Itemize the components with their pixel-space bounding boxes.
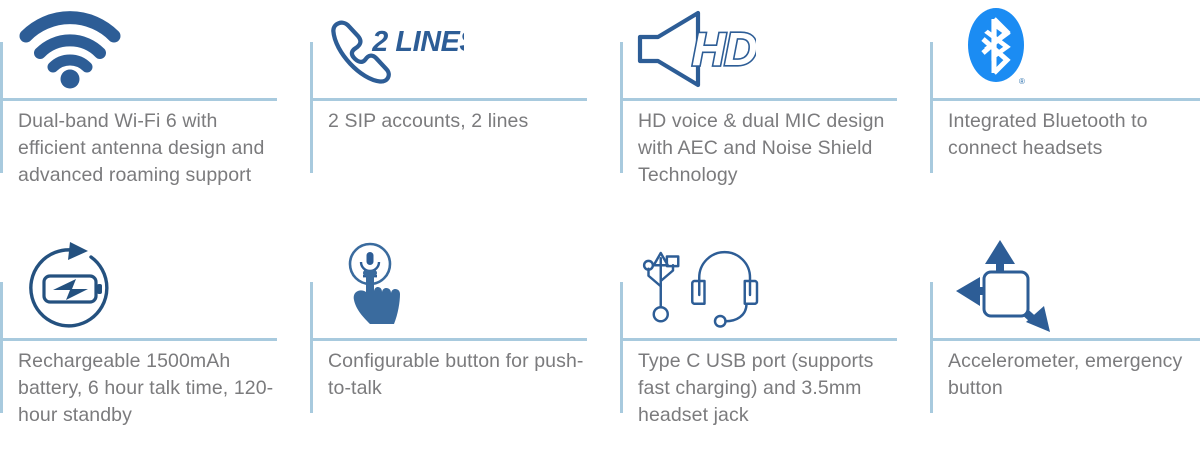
horizontal-divider [620, 338, 897, 341]
horizontal-divider [310, 98, 587, 101]
accelerometer-icon [954, 240, 1094, 336]
feature-caption: Dual-band Wi-Fi 6 with efficient antenna… [18, 108, 286, 189]
horizontal-divider [930, 338, 1200, 341]
rechargeable-battery-icon [22, 240, 162, 336]
vertical-divider [310, 42, 313, 173]
vertical-divider [0, 42, 3, 173]
feature-caption: 2 SIP accounts, 2 lines [328, 108, 596, 135]
push-to-talk-icon [332, 240, 472, 336]
feature-grid: Dual-band Wi-Fi 6 with efficient antenna… [0, 0, 1200, 456]
registered-mark: ® [1019, 77, 1025, 86]
phone-2-lines-icon: 2 LINES [324, 0, 464, 96]
feature-caption: Integrated Bluetooth to connect headsets [948, 108, 1200, 162]
vertical-divider [930, 282, 933, 413]
vertical-divider [0, 282, 3, 413]
horizontal-divider [930, 98, 1200, 101]
feature-caption: HD voice & dual MIC design with AEC and … [638, 108, 906, 189]
vertical-divider [620, 42, 623, 173]
hd-speaker-icon: HD [636, 0, 776, 96]
icon-text: HD [692, 23, 756, 75]
icon-text: 2 LINES [371, 26, 464, 58]
feature-caption: Rechargeable 1500mAh battery, 6 hour tal… [18, 348, 286, 429]
feature-caption: Accelerometer, emergency button [948, 348, 1200, 402]
feature-caption: Type C USB port (supports fast charging)… [638, 348, 906, 429]
vertical-divider [930, 42, 933, 173]
usb-headset-icon [638, 240, 778, 336]
bluetooth-icon: ® [964, 0, 1104, 96]
horizontal-divider [0, 338, 277, 341]
wifi-icon [18, 0, 158, 96]
feature-caption: Configurable button for push-to-talk [328, 348, 596, 402]
vertical-divider [310, 282, 313, 413]
horizontal-divider [620, 98, 897, 101]
vertical-divider [620, 282, 623, 413]
horizontal-divider [0, 98, 277, 101]
horizontal-divider [310, 338, 587, 341]
